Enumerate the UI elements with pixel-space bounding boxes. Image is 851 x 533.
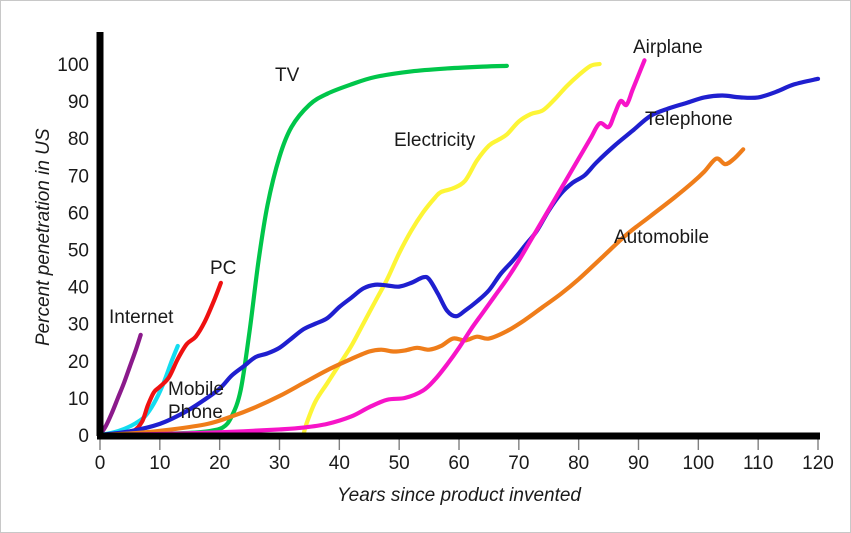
series-line-electricity [303,64,599,435]
x-tick-label-30: 30 [269,453,290,474]
x-tick-label-40: 40 [329,453,350,474]
series-label-internet: Internet [109,307,174,328]
x-axis-title: Years since product invented [337,485,582,506]
technology-adoption-line-chart: 0102030405060708090100 01020304050607080… [1,1,851,533]
x-tick-label-60: 60 [448,453,469,474]
series-label-electricity: Electricity [394,130,476,151]
x-axis-tick-labels: 0102030405060708090100110120 [95,453,834,474]
y-tick-label-30: 30 [68,315,89,336]
y-tick-label-20: 20 [68,352,89,373]
y-tick-label-70: 70 [68,166,89,187]
x-tick-label-100: 100 [682,453,714,474]
series-label-pc: PC [210,258,236,279]
series-label-airplane: Airplane [633,37,703,58]
y-axis-title: Percent penetration in US [33,128,54,346]
y-tick-label-40: 40 [68,278,89,299]
x-tick-label-70: 70 [508,453,529,474]
x-axis-tick-marks [100,439,818,450]
series-line-internet [100,335,141,435]
y-tick-label-80: 80 [68,129,89,150]
chart-figure: 0102030405060708090100 01020304050607080… [0,0,851,533]
y-tick-label-100: 100 [57,55,89,76]
x-tick-label-110: 110 [743,453,773,474]
x-tick-label-80: 80 [568,453,589,474]
series-label-tv: TV [275,65,300,86]
x-tick-label-50: 50 [389,453,410,474]
series-line-tv [100,66,507,435]
y-tick-label-90: 90 [68,92,89,113]
x-tick-label-120: 120 [802,453,834,474]
series-label-automobile: Automobile [614,227,709,248]
x-tick-label-90: 90 [628,453,649,474]
y-tick-label-10: 10 [68,389,89,410]
y-tick-label-60: 60 [68,203,89,224]
x-tick-label-10: 10 [149,453,170,474]
x-tick-label-0: 0 [95,453,106,474]
x-tick-label-20: 20 [209,453,230,474]
series-label-telephone: Telephone [645,109,733,130]
y-tick-label-50: 50 [68,241,89,262]
y-tick-label-0: 0 [78,426,89,447]
series-label-mobile-phone: MobilePhone [168,379,224,423]
series-inline-labels: InternetMobilePhonePCTVElectricityTeleph… [109,37,733,423]
y-axis-tick-labels: 0102030405060708090100 [57,55,89,447]
